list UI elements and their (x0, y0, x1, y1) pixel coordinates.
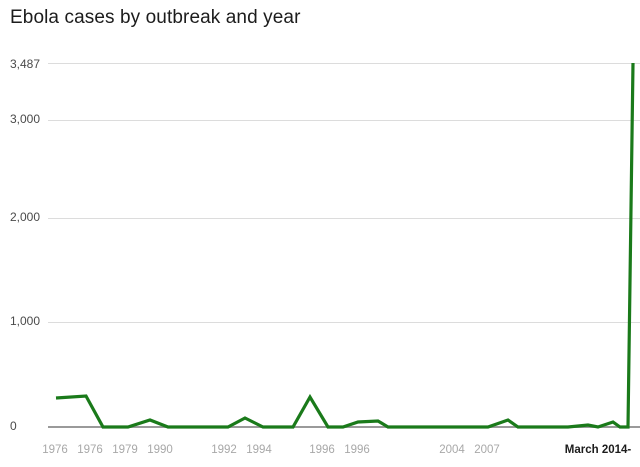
ebola-cases-polyline (56, 63, 633, 427)
x-tick-1990: 1990 (147, 444, 173, 456)
y-tick-3000: 3,000 (10, 112, 52, 126)
x-tick-march-2014: March 2014- (565, 444, 631, 456)
x-tick-1976-a: 1976 (42, 444, 68, 456)
y-tick-1000: 1,000 (10, 314, 52, 328)
x-tick-1994: 1994 (246, 444, 272, 456)
x-tick-1979: 1979 (112, 444, 138, 456)
series-line-ebola-cases (48, 55, 640, 435)
x-axis: 1976 1976 1979 1990 1992 1994 1996 1996 … (0, 444, 640, 466)
x-tick-1992: 1992 (211, 444, 237, 456)
x-tick-2004: 2004 (439, 444, 465, 456)
plot-area (48, 55, 640, 435)
x-tick-2007: 2007 (474, 444, 500, 456)
y-tick-2000: 2,000 (10, 210, 52, 224)
y-tick-0: 0 (10, 419, 52, 433)
x-tick-1976-b: 1976 (77, 444, 103, 456)
chart-figure: Ebola cases by outbreak and year 3,487 3… (0, 0, 640, 467)
y-tick-3487: 3,487 (10, 57, 52, 71)
x-tick-1996-b: 1996 (344, 444, 370, 456)
x-tick-1996-a: 1996 (309, 444, 335, 456)
